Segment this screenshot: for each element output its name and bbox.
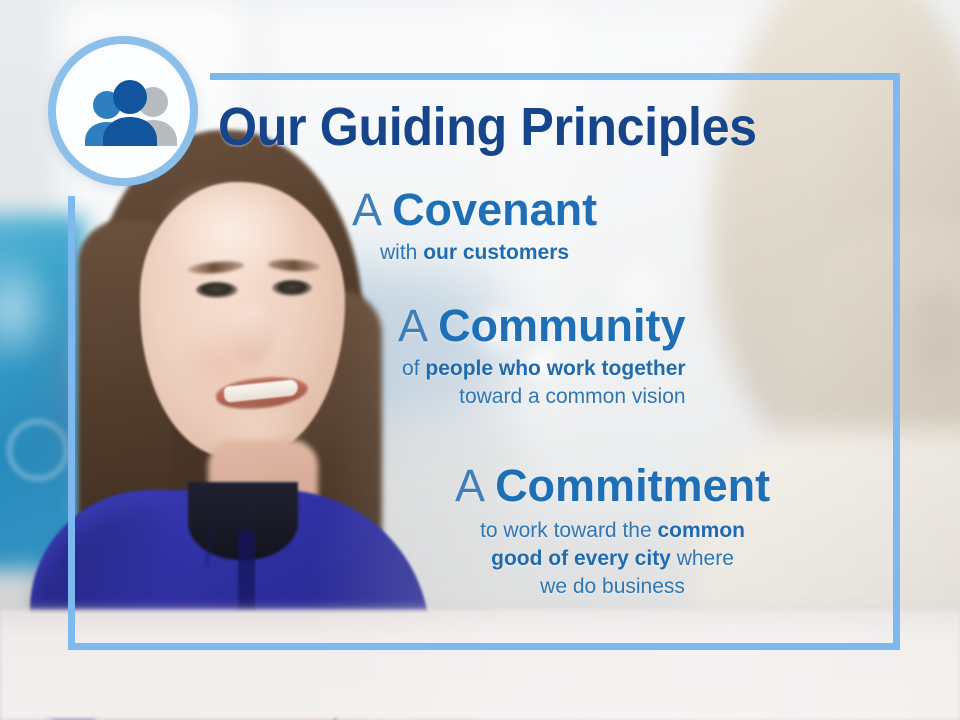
principle-article: A [398,300,426,351]
desk-surface [0,610,960,720]
principle-subtext: of people who work together toward a com… [398,355,686,410]
subtext-bold: people who work together [425,357,685,380]
principle-keyword: Commitment [495,460,770,511]
principle-article: A [352,184,380,235]
frame-border-top [210,73,900,80]
subtext-line: toward a common vision [398,383,686,411]
principle-community: A Community of people who work together … [398,302,686,411]
people-group-badge [48,36,198,186]
principle-subtext: to work toward the common good of every … [455,517,770,600]
principle-heading: A Commitment [455,462,770,509]
subtext-line: we do business [455,573,770,601]
people-group-icon [82,77,180,161]
eye-left [196,282,238,298]
banner-root: FLOW FLOW Our Guiding Principles [0,0,960,720]
subtext-line: good of every city where [455,545,770,573]
subtext-regular: we do business [540,575,685,598]
principle-keyword: Community [438,300,686,351]
subtext-regular: of [402,357,425,380]
frame-border-bottom [68,643,900,650]
subtext-regular: where [671,547,734,570]
customer-ear [905,290,960,372]
subtext-regular: to work toward the [480,519,657,542]
frame-border-left [68,196,75,650]
principle-subtext: with our customers [352,239,597,267]
subtext-bold: good of every city [491,547,671,570]
page-title: Our Guiding Principles [218,96,757,158]
principle-covenant: A Covenant with our customers [352,186,597,267]
subtext-line: to work toward the common [455,517,770,545]
subtext-bold: common [657,519,745,542]
principle-heading: A Community [398,302,686,349]
frame-border-right [893,73,900,650]
subtext-bold: our customers [423,241,569,264]
principle-commitment: A Commitment to work toward the common g… [455,462,770,600]
principle-article: A [455,460,483,511]
subtext-line: of people who work together [398,355,686,383]
principle-keyword: Covenant [392,184,597,235]
subtext-regular: with [380,241,423,264]
eye-right [272,280,312,296]
principle-heading: A Covenant [352,186,597,233]
